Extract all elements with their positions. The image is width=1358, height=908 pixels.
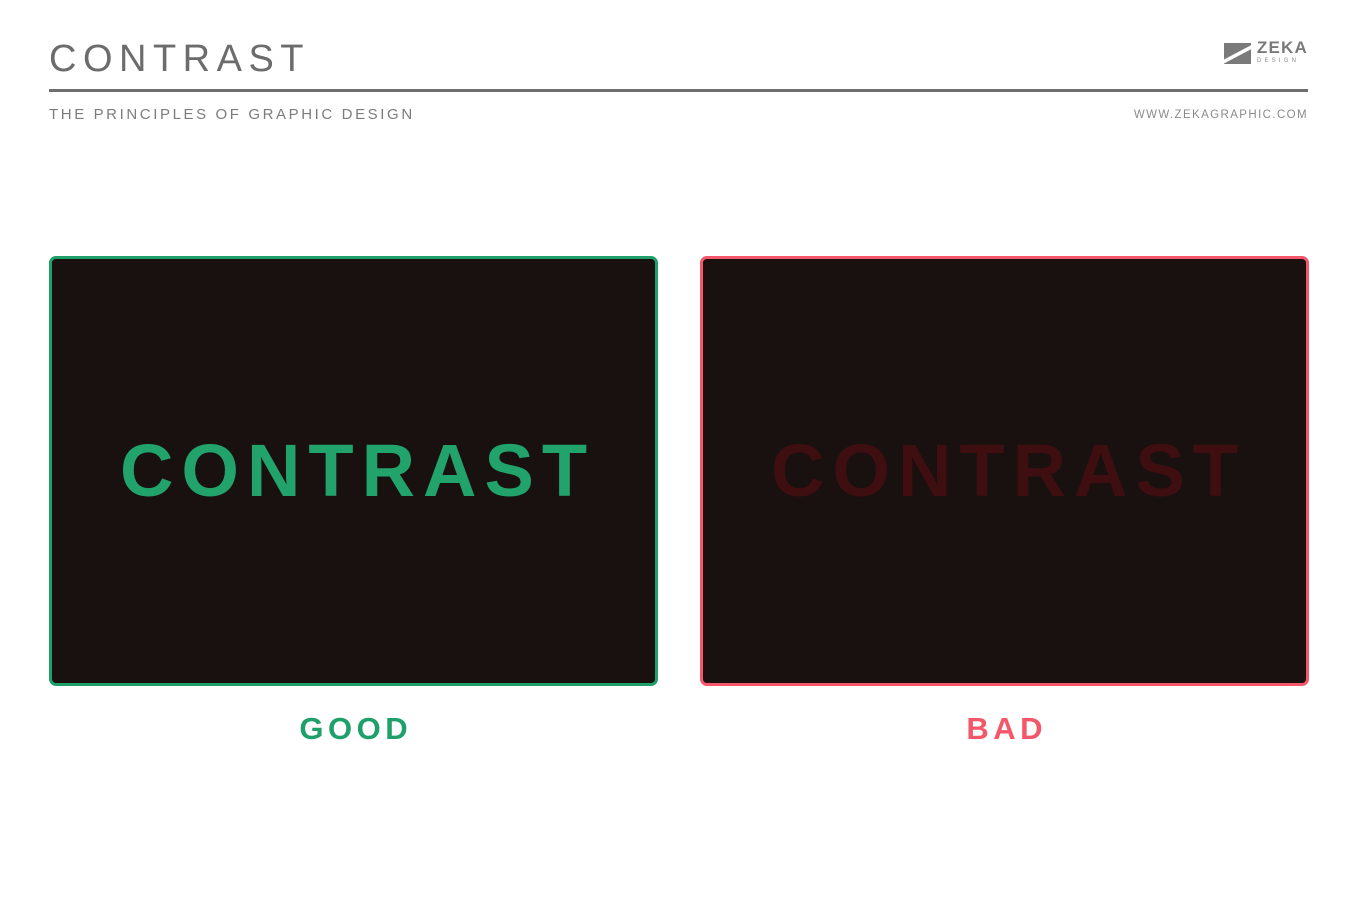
brand-logo[interactable]: ZEKA DESIGN (1224, 40, 1308, 66)
example-good: CONTRAST GOOD (49, 256, 658, 750)
page-title: CONTRAST (49, 32, 310, 86)
contrast-swatch-good: CONTRAST (49, 256, 658, 686)
brand-text-block: ZEKA DESIGN (1257, 40, 1308, 66)
contrast-swatch-bad: CONTRAST (700, 256, 1309, 686)
header-bottom-row: THE PRINCIPLES OF GRAPHIC DESIGN WWW.ZEK… (49, 104, 1308, 128)
example-bad: CONTRAST BAD (700, 256, 1309, 750)
example-caption-bad: BAD (700, 708, 1309, 750)
header-divider (49, 89, 1308, 92)
example-caption-good: GOOD (49, 708, 658, 750)
website-url[interactable]: WWW.ZEKAGRAPHIC.COM (1134, 105, 1308, 125)
swatch-word-bad: CONTRAST (763, 434, 1246, 508)
page-subtitle: THE PRINCIPLES OF GRAPHIC DESIGN (49, 104, 415, 126)
brand-name: ZEKA (1257, 40, 1308, 56)
header-top-row: CONTRAST ZEKA DESIGN (49, 32, 1308, 88)
zeka-slash-mark-icon (1224, 43, 1251, 64)
brand-tagline: DESIGN (1257, 57, 1308, 66)
swatch-word-good: CONTRAST (112, 434, 595, 508)
slide-canvas: CONTRAST ZEKA DESIGN THE PRINCIPLES OF G… (0, 0, 1358, 908)
